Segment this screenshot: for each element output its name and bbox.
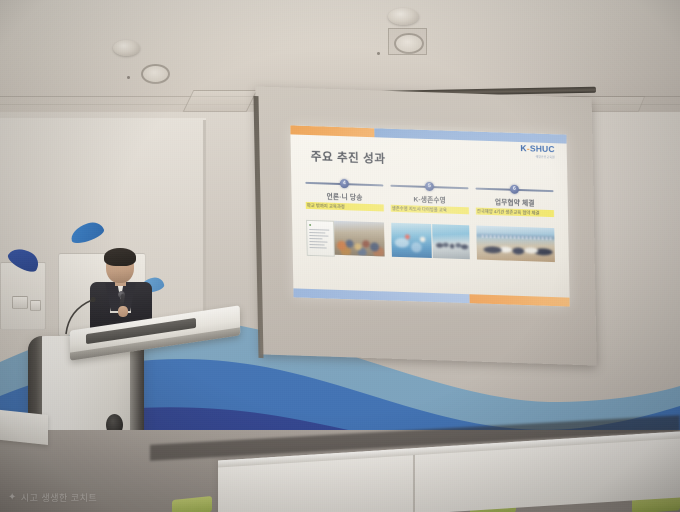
step-number-badge: 5	[425, 182, 434, 191]
crowd-photo-thumbnail	[334, 221, 385, 257]
presenter-hair	[104, 248, 136, 266]
slide-column: 4 언론·니 당송 학교 밖까지 교육과정	[305, 178, 384, 211]
sparkle-icon: ✦	[8, 492, 17, 503]
column-heading: K-생존수영	[391, 193, 469, 206]
column-highlight-text: 생존수영 지도사 다이빙풀 교육	[391, 205, 469, 214]
room-background: 주요 추진 성과 K-SHUC 해양안전교육원 4 언론·니 당송 학교 밖까지…	[0, 0, 680, 512]
timeline-rail: 4	[305, 178, 383, 190]
slide-column: 5 K-생존수영 생존수영 지도사 다이빙풀 교육	[390, 181, 469, 214]
logo-name: SHUC	[530, 143, 555, 154]
slide-columns: 4 언론·니 당송 학교 밖까지 교육과정 5 K-생존수영 생존수영 지도사 …	[305, 178, 554, 217]
ceiling-access-panel	[183, 90, 258, 112]
slide-thumbnail	[476, 224, 555, 265]
slide-title: 주요 추진 성과	[311, 148, 386, 166]
column-heading: 업무협약 체결	[476, 196, 554, 209]
slide-thumbnails	[306, 218, 555, 264]
watermark-text: 시고 생생한 코치트	[21, 491, 97, 504]
watermark: ✦ 시고 생생한 코치트	[8, 491, 97, 504]
ceiling-downlight	[388, 8, 419, 25]
ceiling-sprinkler	[377, 52, 380, 55]
slide-column: 6 업무협약 체결 전국해양 4기관 생존교육 협약 체결	[475, 184, 554, 217]
ceiling-light-ring	[394, 33, 424, 54]
ceiling-light-ring	[141, 64, 170, 84]
presentation-slide: 주요 추진 성과 K-SHUC 해양안전교육원 4 언론·니 당송 학교 밖까지…	[290, 125, 570, 306]
kshuc-logo: K-SHUC 해양안전교육원	[520, 144, 555, 159]
ceiling-sprinkler	[127, 76, 130, 79]
column-highlight-text: 학교 밖까지 교육과정	[306, 202, 384, 211]
timeline-rail: 6	[475, 184, 553, 196]
photo-scene: 주요 추진 성과 K-SHUC 해양안전교육원 4 언론·니 당송 학교 밖까지…	[0, 0, 680, 512]
poolside-photo-thumbnail	[432, 224, 470, 259]
slide-accent-top-left	[290, 125, 374, 137]
pool-photo-thumbnail	[391, 223, 432, 258]
logo-subtitle: 해양안전교육원	[521, 154, 555, 159]
ceiling-downlight	[113, 40, 140, 56]
slide-thumbnail	[306, 218, 385, 259]
ceremony-photo-thumbnail	[476, 226, 555, 263]
slide-thumbnail	[391, 221, 470, 262]
step-number-badge: 4	[340, 179, 349, 188]
banner-text	[481, 235, 552, 240]
timeline-rail: 5	[390, 181, 468, 193]
side-table	[0, 409, 48, 445]
step-number-badge: 6	[510, 185, 519, 194]
document-thumbnail	[306, 220, 335, 257]
column-heading: 언론·니 당송	[305, 190, 383, 203]
presenter-hand	[118, 306, 128, 317]
column-highlight-text: 전국해양 4기관 생존교육 협약 체결	[476, 208, 554, 217]
